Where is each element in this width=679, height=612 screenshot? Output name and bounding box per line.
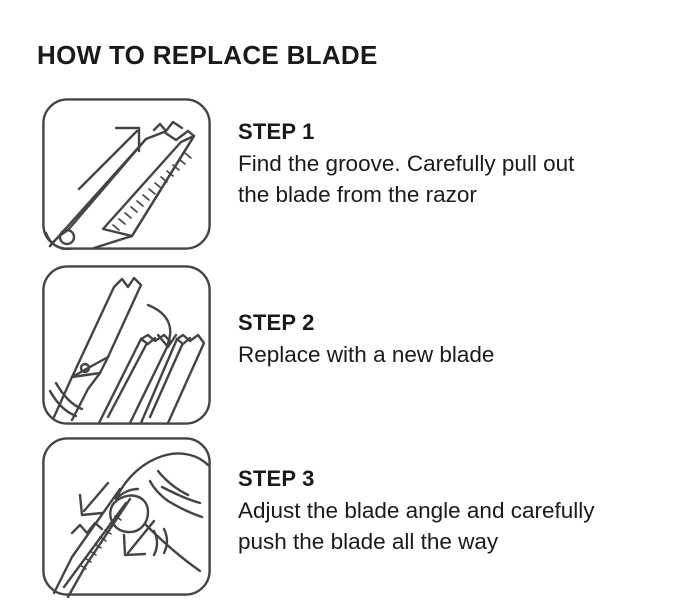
step-2-text: STEP 2 Replace with a new blade <box>238 309 676 370</box>
step-2-illustration <box>42 265 211 425</box>
step-3-text: STEP 3 Adjust the blade angle and carefu… <box>238 465 676 557</box>
step-row: STEP 3 Adjust the blade angle and carefu… <box>0 437 679 595</box>
step-2-description: Replace with a new blade <box>238 339 676 370</box>
step-3-label: STEP 3 <box>238 465 676 493</box>
instruction-page: HOW TO REPLACE BLADE <box>0 0 679 612</box>
step-3-description: Adjust the blade angle and carefully pus… <box>238 495 676 557</box>
step-1-illustration <box>42 98 211 250</box>
page-title: HOW TO REPLACE BLADE <box>37 40 378 71</box>
step-1-text: STEP 1 Find the groove. Carefully pull o… <box>238 118 676 210</box>
step-1-description: Find the groove. Carefully pull out the … <box>238 148 676 210</box>
step-2-label: STEP 2 <box>238 309 676 337</box>
step-row: STEP 1 Find the groove. Carefully pull o… <box>0 98 679 250</box>
step-3-illustration <box>42 437 211 612</box>
step-1-label: STEP 1 <box>238 118 676 146</box>
step-row: STEP 2 Replace with a new blade <box>0 265 679 425</box>
